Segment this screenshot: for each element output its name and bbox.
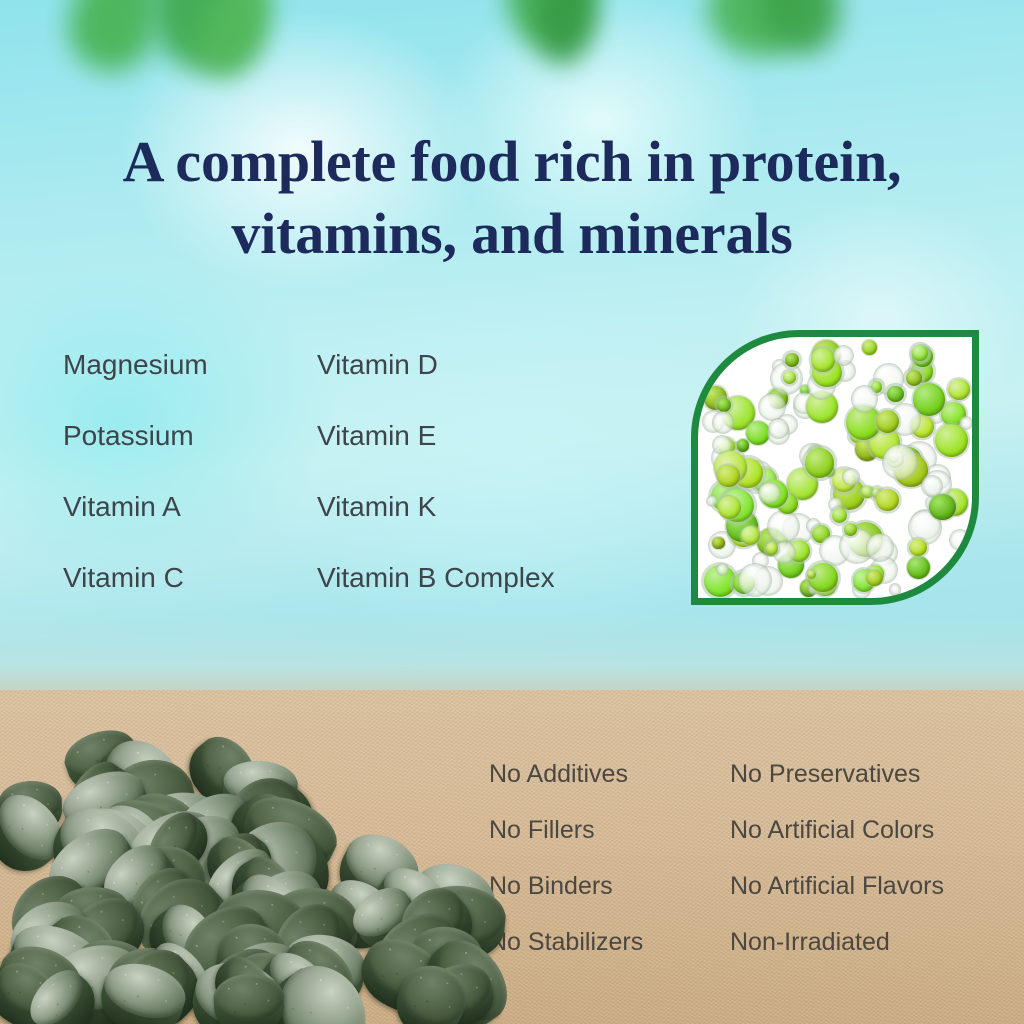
algae-cell <box>876 410 899 433</box>
algae-cell <box>912 345 928 361</box>
algae-cell <box>769 419 788 438</box>
algae-cell <box>707 496 717 506</box>
nutrient-item: Vitamin B Complex <box>317 558 555 598</box>
algae-cell <box>906 370 923 387</box>
nutrient-row: Vitamin A Vitamin K <box>63 487 663 558</box>
algae-cell <box>909 539 927 557</box>
page-title: A complete food rich in protein, vitamin… <box>0 126 1024 270</box>
nutrient-row: Potassium Vitamin E <box>63 416 663 487</box>
nutrient-item: Vitamin D <box>317 345 438 385</box>
algae-cell <box>883 445 917 479</box>
claim-item: No Binders <box>489 869 730 903</box>
nutrient-row: Magnesium Vitamin D <box>63 345 663 416</box>
algae-cell <box>960 417 972 429</box>
headline-line-1: A complete food rich in protein, <box>0 126 1024 198</box>
nutrient-item: Potassium <box>63 416 317 456</box>
claim-item: No Stabilizers <box>489 925 730 959</box>
algae-cell <box>746 421 770 445</box>
nutrient-list: Magnesium Vitamin D Potassium Vitamin E … <box>63 345 663 629</box>
algae-cell <box>867 534 893 560</box>
algae-cell <box>887 386 904 403</box>
claim-row: No Stabilizers Non-Irradiated <box>489 925 1009 981</box>
algae-cell <box>890 584 901 595</box>
algae-cell <box>862 340 877 355</box>
algae-cell <box>768 511 799 542</box>
algae-cell <box>922 476 942 496</box>
tablet <box>213 972 285 1024</box>
algae-cells-panel <box>691 330 979 605</box>
claim-item: No Artificial Colors <box>730 813 934 847</box>
algae-cell <box>948 379 970 401</box>
algae-cell <box>929 494 956 521</box>
claim-item: No Preservatives <box>730 757 920 791</box>
algae-cell <box>805 448 835 478</box>
claim-item: No Fillers <box>489 813 730 847</box>
algae-cell <box>737 439 750 452</box>
algae-cells-image <box>698 337 972 598</box>
tablet-group <box>0 700 490 1024</box>
claims-list: No Additives No Preservatives No Fillers… <box>489 757 1009 981</box>
nutrient-item: Vitamin E <box>317 416 436 456</box>
algae-cell <box>759 483 779 503</box>
algae-cell <box>843 469 859 485</box>
algae-cell <box>739 564 771 596</box>
algae-cell <box>834 346 853 365</box>
algae-cell <box>717 398 731 412</box>
claim-row: No Additives No Preservatives <box>489 757 1009 813</box>
algae-cell <box>935 424 968 457</box>
algae-cell <box>876 489 899 512</box>
algae-cell <box>717 564 728 575</box>
claim-item: No Artificial Flavors <box>730 869 944 903</box>
algae-cell <box>950 530 970 550</box>
claim-row: No Fillers No Artificial Colors <box>489 813 1009 869</box>
nutrient-item: Vitamin C <box>63 558 317 598</box>
nutrient-item: Vitamin K <box>317 487 436 527</box>
algae-cell <box>807 570 816 579</box>
nutrient-item: Vitamin A <box>63 487 317 527</box>
algae-cell <box>713 412 734 433</box>
algae-cell <box>712 537 725 550</box>
algae-cell <box>852 386 877 411</box>
nutrient-row: Vitamin C Vitamin B Complex <box>63 558 663 629</box>
headline-line-2: vitamins, and minerals <box>0 198 1024 270</box>
claim-row: No Binders No Artificial Flavors <box>489 869 1009 925</box>
claim-item: No Additives <box>489 757 730 791</box>
algae-cell <box>907 556 930 579</box>
spirulina-tablet-pile <box>0 700 490 1024</box>
nutrient-item: Magnesium <box>63 345 317 385</box>
algae-cell <box>785 353 799 367</box>
algae-cell <box>741 526 760 545</box>
claim-item: Non-Irradiated <box>730 925 890 959</box>
product-infographic: A complete food rich in protein, vitamin… <box>0 0 1024 1024</box>
algae-cell <box>832 508 847 523</box>
algae-cell <box>717 465 740 488</box>
algae-cell <box>811 348 834 371</box>
algae-cell <box>766 542 779 555</box>
algae-cell <box>866 570 882 586</box>
